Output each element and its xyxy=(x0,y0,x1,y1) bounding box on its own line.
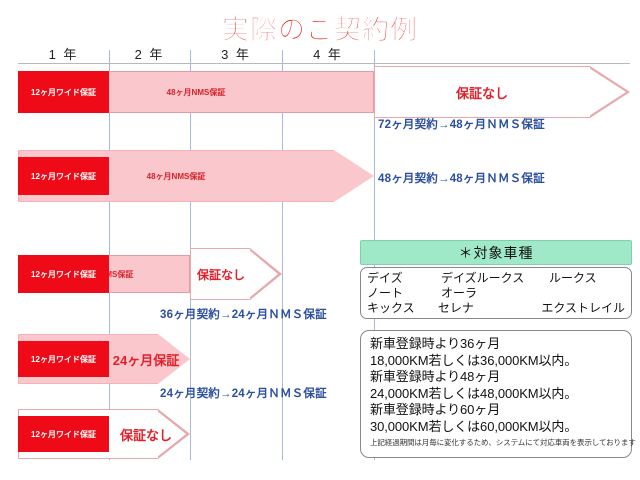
conditions-panel: 新車登録時より36ヶ月 18,000KM若しくは36,000KM以内。 新車登録… xyxy=(360,330,632,458)
condition-line: 新車登録時より48ヶ月 xyxy=(370,369,627,386)
model-row: ノート オーラ xyxy=(367,286,625,301)
wide-warranty-bar-row3: 12ヶ月ワイド保証 xyxy=(18,255,109,293)
model-name: デイズ xyxy=(367,271,441,286)
wide-warranty-bar-row2: 12ヶ月ワイド保証 xyxy=(18,157,109,195)
condition-line: 新車登録時より60ヶ月 xyxy=(370,402,627,419)
contract-note-row1: 72ヶ月契約→48ヶ月ＮＭＳ保証 xyxy=(378,116,545,132)
condition-line: 30,000KM若しくは60,000KM以内。 xyxy=(370,419,627,436)
wide-warranty-bar-row5: 12ヶ月ワイド保証 xyxy=(18,416,109,452)
no-warranty-label-row3: 保証なし xyxy=(190,262,252,286)
model-name: キックス xyxy=(367,301,438,316)
model-row: キックス セレナ エクストレイル xyxy=(367,301,625,316)
no-warranty-label-row1: 保証なし xyxy=(374,80,590,104)
diagram-canvas: 実際のご契約例 1 年 2 年 3 年 4 年 48ヶ月NMS保証 12ヶ月ワイ… xyxy=(0,0,640,480)
page-title: 実際のご契約例 xyxy=(0,8,640,47)
model-name: オーラ xyxy=(441,286,549,301)
year-label-2: 2 年 xyxy=(109,44,190,63)
year-label-4: 4 年 xyxy=(282,44,374,63)
contract-note-row4: 24ヶ月契約→24ヶ月ＮＭＳ保証 xyxy=(160,385,327,401)
model-name: ルークス xyxy=(549,271,597,286)
model-name: セレナ xyxy=(438,301,541,316)
condition-line: 新車登録時より36ヶ月 xyxy=(370,336,627,353)
model-name: デイズルークス xyxy=(441,271,549,286)
target-models-list: デイズ デイズルークス ルークス ノート オーラ キックス セレナ エクストレイ… xyxy=(367,271,625,316)
wide-warranty-bar-row4: 12ヶ月ワイド保証 xyxy=(18,341,109,377)
target-models-heading: ＊対象車種 xyxy=(360,240,632,265)
condition-line: 24,000KM若しくは48,000KM以内。 xyxy=(370,386,627,403)
model-row: デイズ デイズルークス ルークス xyxy=(367,271,625,286)
no-warranty-label-row5: 保証なし xyxy=(109,422,183,446)
year-label-3: 3 年 xyxy=(190,44,282,63)
year-axis: 1 年 2 年 3 年 4 年 xyxy=(0,44,640,64)
contract-note-row2: 48ヶ月契約→48ヶ月ＮＭＳ保証 xyxy=(378,170,545,186)
year-label-1: 1 年 xyxy=(18,44,109,63)
model-name: エクストレイル xyxy=(541,301,625,316)
contract-note-row3: 36ヶ月契約→24ヶ月ＮＭＳ保証 xyxy=(160,306,327,322)
warranty-label-row4: 24ヶ月保証 xyxy=(109,347,183,371)
wide-warranty-bar-row1: 12ヶ月ワイド保証 xyxy=(18,71,109,113)
conditions-footnote: 上記経過期間は月毎に変化するため、システムにて対応車両を表示しております xyxy=(370,437,627,448)
target-models-panel: デイズ デイズルークス ルークス ノート オーラ キックス セレナ エクストレイ… xyxy=(360,267,632,319)
model-name: ノート xyxy=(367,286,441,301)
condition-line: 18,000KM若しくは36,000KM以内。 xyxy=(370,353,627,370)
